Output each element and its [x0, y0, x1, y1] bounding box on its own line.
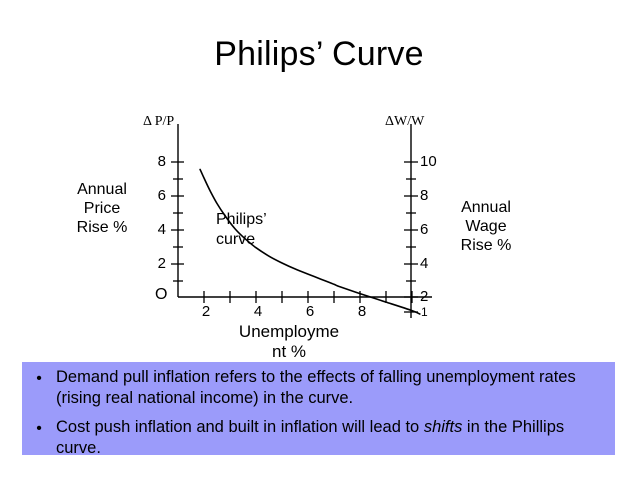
left-tick-label-2: 2: [144, 255, 166, 272]
bullet-text-box: • Demand pull inflation refers to the ef…: [22, 362, 615, 455]
x-tick-label-8: 8: [351, 303, 373, 320]
list-item: • Cost push inflation and built in infla…: [22, 417, 615, 459]
x-axis-title: Unemployme nt %: [233, 322, 345, 362]
bullet-text: Demand pull inflation refers to the effe…: [56, 367, 615, 409]
origin-label: O: [155, 286, 167, 304]
right-tick-label-4: 4: [420, 255, 444, 272]
right-tick-label-1: 1: [421, 305, 445, 319]
right-tick-label-10: 10: [420, 153, 444, 170]
x-tick-label-2: 2: [195, 303, 217, 320]
left-axis-caption: Annual Price Rise %: [56, 180, 148, 237]
x-tick-label-6: 6: [299, 303, 321, 320]
philips-curve-chart: Δ P/P ΔW/W 8 6 4 2 O 10 8 6 4 2 1 2 4 6 …: [0, 100, 638, 360]
right-axis-symbol: ΔW/W: [385, 114, 424, 130]
left-axis-symbol: Δ P/P: [143, 114, 174, 130]
right-axis-caption: Annual Wage Rise %: [438, 198, 534, 255]
bullet-icon: •: [22, 367, 56, 389]
x-tick-label-4: 4: [247, 303, 269, 320]
bullet-icon: •: [22, 417, 56, 439]
list-item: • Demand pull inflation refers to the ef…: [22, 367, 615, 409]
left-tick-label-8: 8: [144, 153, 166, 170]
page-title: Philips’ Curve: [0, 36, 638, 73]
curve-annotation-label: Philips’ curve: [216, 210, 306, 250]
right-tick-label-2: 2: [420, 288, 444, 305]
bullet-text: Cost push inflation and built in inflati…: [56, 417, 615, 459]
